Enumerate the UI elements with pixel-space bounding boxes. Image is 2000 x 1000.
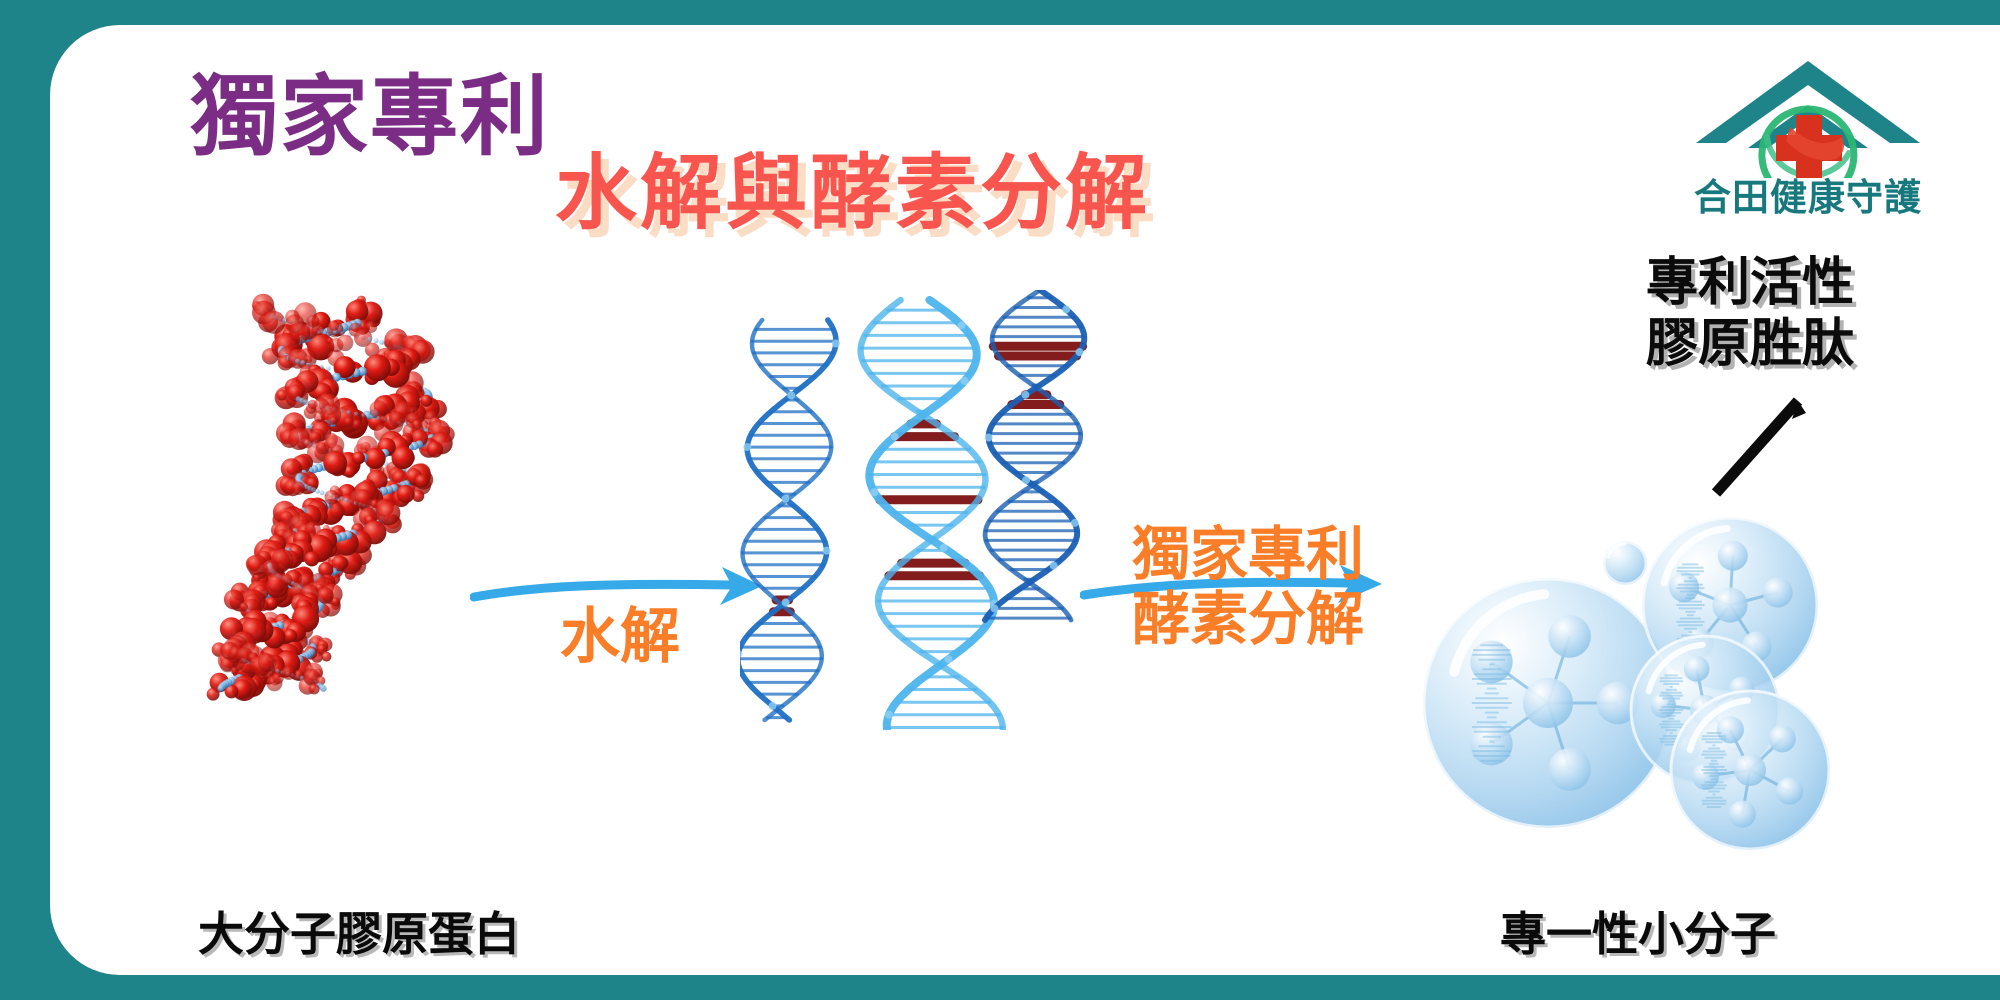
callout-pointer-line-icon <box>1694 395 1814 505</box>
infographic-root: 獨家專利 水解與酵素分解 <box>0 0 2000 1000</box>
page-title-process: 水解與酵素分解 <box>555 153 1150 235</box>
arrow-label-enzyme-line-2: 酵素分解 <box>1132 588 1364 653</box>
page-title-exclusive-patent: 獨家專利 <box>190 73 550 161</box>
caption-micro-peptide: 專一性小分子 <box>1500 911 1776 957</box>
graphic-dna-helix <box>740 290 1110 730</box>
callout-line-2: 膠原胜肽 <box>1646 314 1976 375</box>
graphic-micro-peptide-bubbles <box>1420 505 1840 865</box>
brand-logo-text: 合田健康守護 <box>1672 179 1944 216</box>
callout-line-1: 專利活性 <box>1646 253 1976 314</box>
arrow-label-enzyme: 獨家專利 酵素分解 <box>1132 523 1364 653</box>
callout-patent-peptide: 專利活性 膠原胜肽 <box>1646 253 1976 376</box>
page-subtitle-wrap: 水解與酵素分解 <box>555 153 1150 235</box>
content-card: 獨家專利 水解與酵素分解 <box>50 25 2000 975</box>
brand-logo[interactable]: 合田健康守護 <box>1672 53 1944 218</box>
graphic-macro-collagen <box>168 280 468 710</box>
caption-macro-collagen: 大分子膠原蛋白 <box>198 911 520 957</box>
arrow-label-hydrolysis: 水解 <box>560 603 680 670</box>
arrow-label-enzyme-line-1: 獨家專利 <box>1132 523 1364 588</box>
